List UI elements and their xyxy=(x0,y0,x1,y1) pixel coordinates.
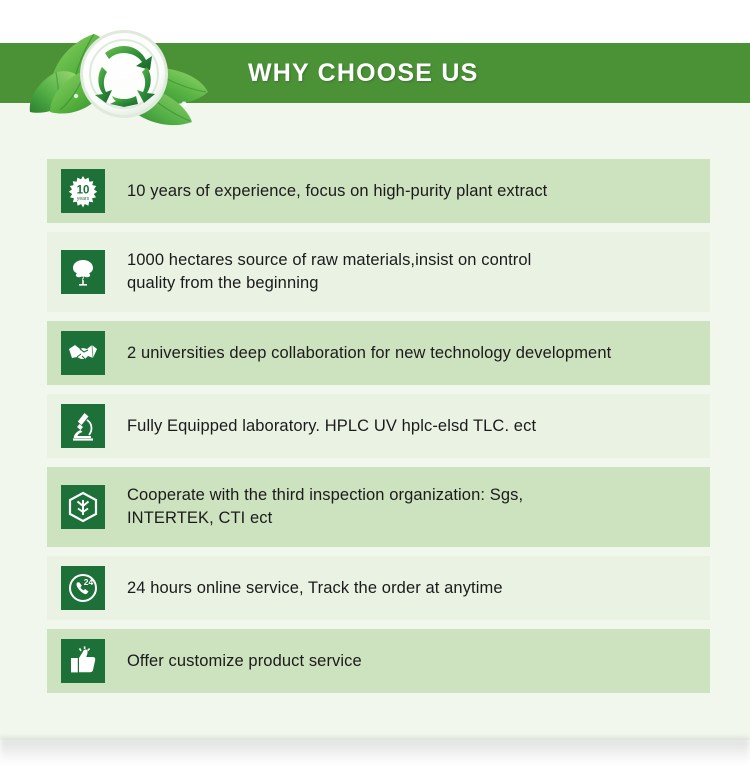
feature-text: 2 universities deep collaboration for ne… xyxy=(127,342,611,365)
feature-text: Offer customize product service xyxy=(127,650,362,673)
feature-item-raw-materials: 1000 hectares source of raw materials,in… xyxy=(47,232,710,312)
panel-drop-shadow xyxy=(0,738,750,764)
why-choose-us-banner: WHY CHOOSE US xyxy=(0,0,750,766)
feature-text: Fully Equipped laboratory. HPLC UV hplc-… xyxy=(127,415,536,438)
certified-package-icon xyxy=(61,485,105,529)
handshake-icon xyxy=(61,331,105,375)
feature-text: 24 hours online service, Track the order… xyxy=(127,577,503,600)
feature-text: Cooperate with the third inspection orga… xyxy=(127,484,523,530)
feature-item-laboratory: Fully Equipped laboratory. HPLC UV hplc-… xyxy=(47,394,710,458)
svg-text:24: 24 xyxy=(84,577,94,587)
feature-item-universities: 2 universities deep collaboration for ne… xyxy=(47,321,710,385)
svg-text:years: years xyxy=(77,196,90,202)
svg-text:10: 10 xyxy=(77,185,90,197)
feature-item-online-service: 24 24 hours online service, Track the or… xyxy=(47,556,710,620)
page-title: WHY CHOOSE US xyxy=(248,43,668,103)
green-leaves-recycle-logo xyxy=(16,12,231,134)
feature-item-inspection: Cooperate with the third inspection orga… xyxy=(47,467,710,547)
24-hour-phone-icon: 24 xyxy=(61,566,105,610)
feature-list: 10 years 10 years of experience, focus o… xyxy=(47,159,710,702)
tree-icon xyxy=(61,250,105,294)
thumbs-up-icon xyxy=(61,639,105,683)
feature-text: 10 years of experience, focus on high-pu… xyxy=(127,180,547,203)
feature-item-experience: 10 years 10 years of experience, focus o… xyxy=(47,159,710,223)
feature-item-customize: Offer customize product service xyxy=(47,629,710,693)
ten-years-badge-icon: 10 years xyxy=(61,169,105,213)
microscope-icon xyxy=(61,404,105,448)
feature-text: 1000 hectares source of raw materials,in… xyxy=(127,249,531,295)
